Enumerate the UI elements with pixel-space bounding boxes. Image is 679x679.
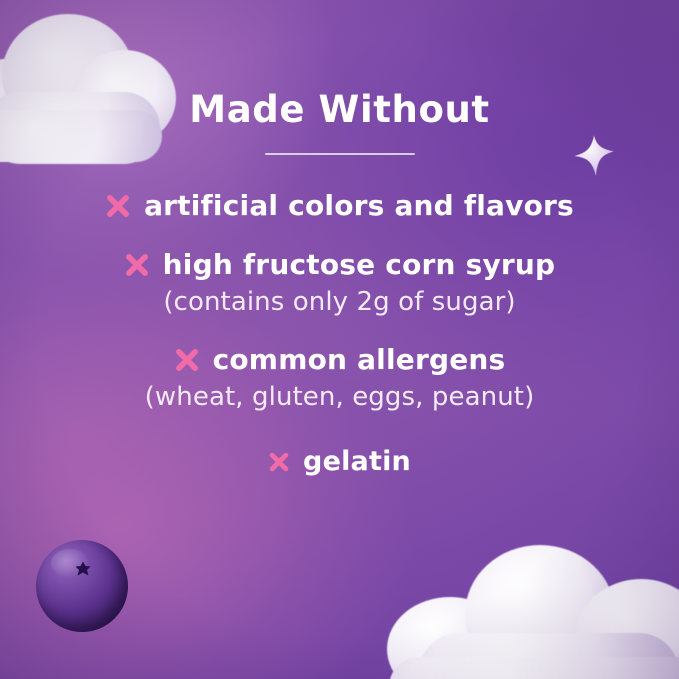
list-item-common-allergens: common allergens (wheat, gluten, eggs, p… bbox=[0, 343, 679, 412]
x-mark-icon bbox=[105, 193, 131, 219]
title-divider bbox=[265, 153, 415, 155]
list-item-label: artificial colors and flavors bbox=[144, 189, 574, 222]
list-item-gelatin: gelatin bbox=[0, 446, 679, 477]
content-wrapper: Made Without artificial colors and flavo… bbox=[0, 0, 679, 679]
list-item-label: high fructose corn syrup bbox=[163, 248, 556, 281]
x-mark-icon bbox=[174, 347, 200, 373]
x-mark-icon bbox=[124, 252, 150, 278]
benefits-list: artificial colors and flavors high fruct… bbox=[0, 189, 679, 503]
page-title: Made Without bbox=[189, 88, 489, 131]
list-item-subtext: (contains only 2g of sugar) bbox=[163, 287, 515, 317]
list-item-subtext: (wheat, gluten, eggs, peanut) bbox=[145, 382, 535, 412]
list-item-high-fructose-corn-syrup: high fructose corn syrup (contains only … bbox=[0, 248, 679, 317]
product-benefits-graphic: Made Without artificial colors and flavo… bbox=[0, 0, 679, 679]
list-item-label: gelatin bbox=[303, 446, 411, 477]
x-mark-icon bbox=[268, 451, 290, 473]
list-item-artificial-colors: artificial colors and flavors bbox=[0, 189, 679, 222]
list-item-label: common allergens bbox=[213, 343, 506, 376]
